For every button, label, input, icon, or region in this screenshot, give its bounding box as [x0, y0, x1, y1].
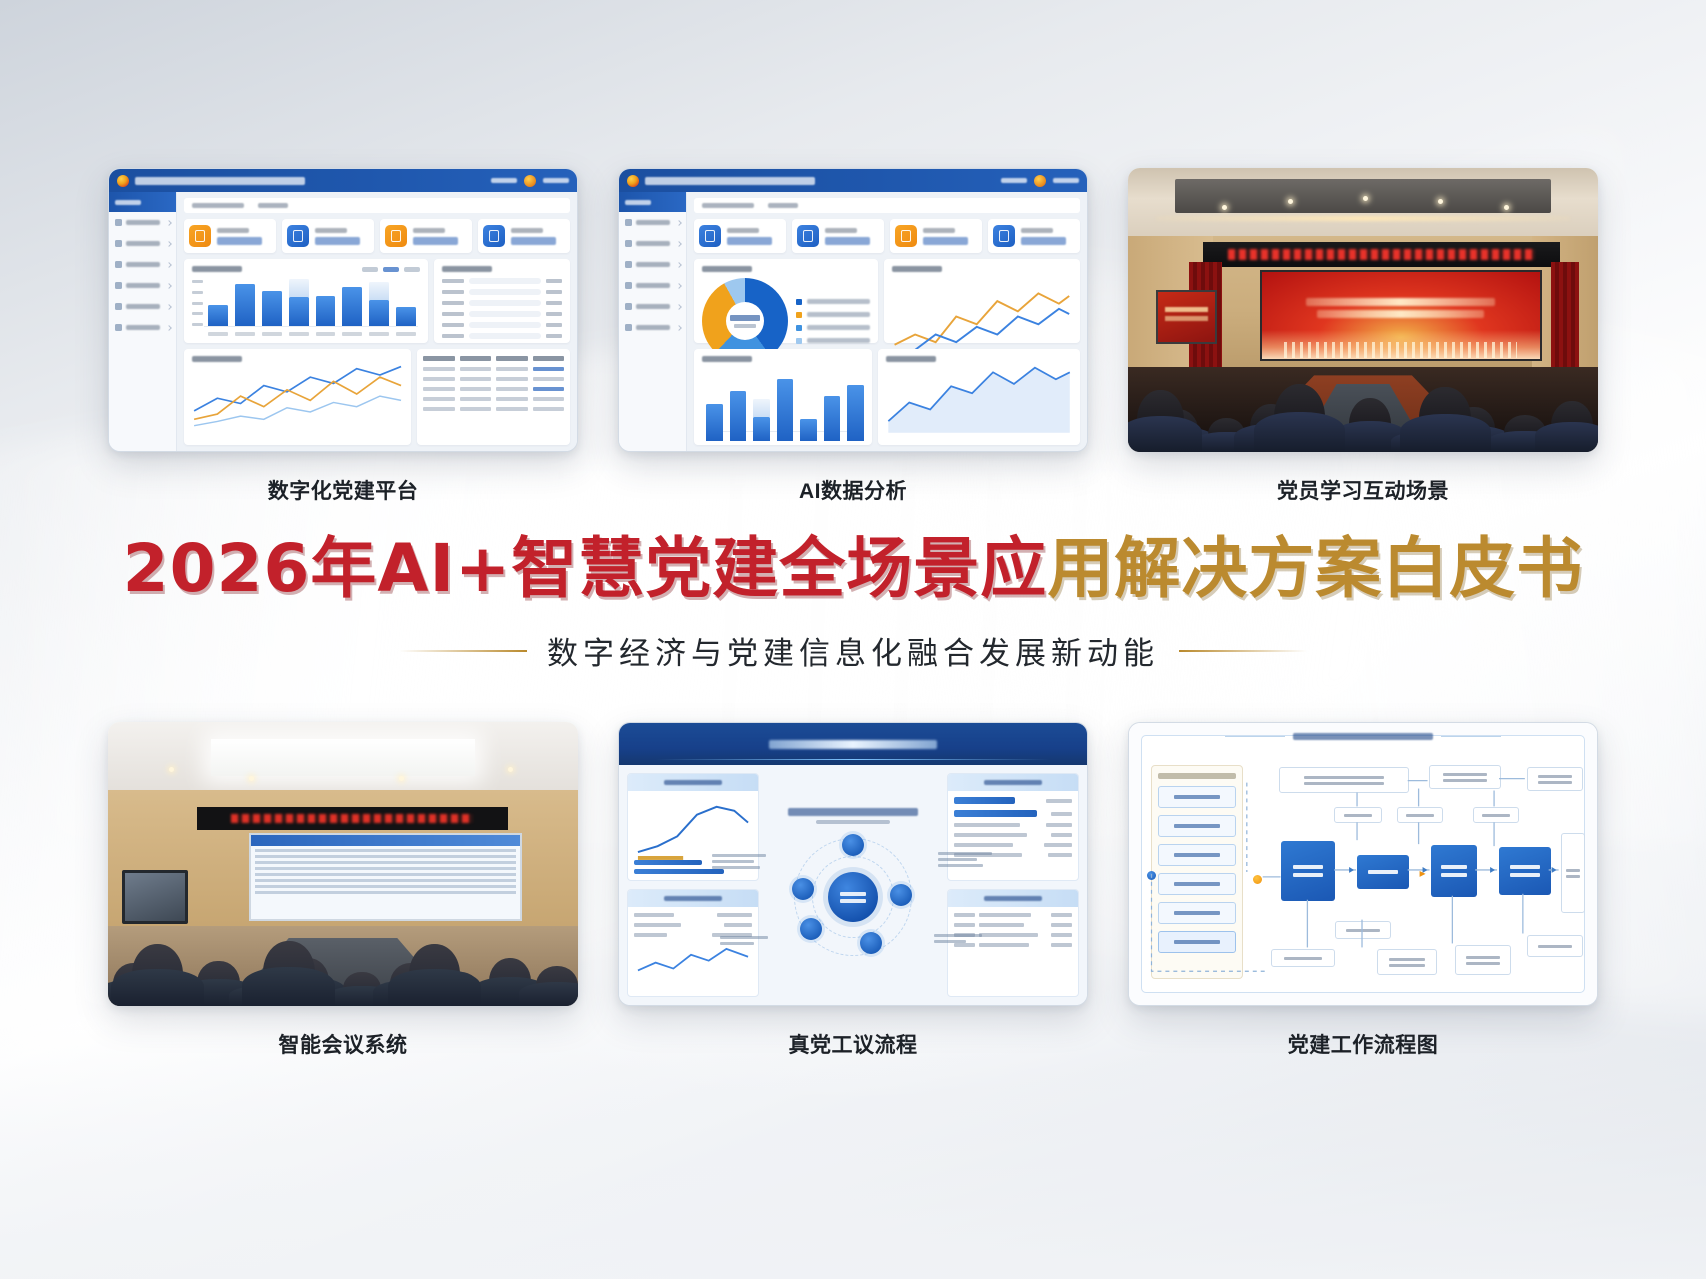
meeting-room-photo [108, 722, 578, 1006]
bar [208, 305, 228, 326]
dashboard-main [687, 192, 1087, 451]
kpi-card-4[interactable] [988, 219, 1080, 253]
list-item[interactable] [954, 833, 1072, 837]
breadcrumb-text [192, 203, 244, 208]
sidebar-item-3[interactable] [109, 254, 176, 275]
sidebar-header [619, 192, 686, 212]
attendee [1349, 398, 1391, 452]
list-rows [954, 797, 1072, 857]
bar-chart [706, 369, 864, 441]
chevron-down-icon [166, 220, 172, 226]
screen-skyline-graphic [1262, 330, 1540, 360]
bottom-panel-row [184, 349, 570, 445]
panel-list [947, 773, 1079, 881]
bar [800, 419, 817, 441]
panel-line-chart [884, 259, 1080, 343]
panel-header [948, 774, 1078, 791]
dashboard-mock [109, 169, 577, 451]
projected-app-header [251, 835, 520, 846]
attendee-foreground [263, 941, 315, 1006]
sidebar-item-label [126, 325, 160, 330]
panel-donut-chart [694, 259, 878, 343]
chevron-down-icon [166, 304, 172, 310]
sidebar-item-3[interactable] [619, 254, 686, 275]
panel-header [628, 774, 758, 791]
donut-legend [796, 299, 870, 344]
bar [730, 391, 747, 441]
progress-row [442, 289, 562, 295]
thumbnail-digital-party-platform[interactable] [108, 168, 578, 452]
donut-center-label [702, 278, 788, 364]
dashboard-title-text [645, 177, 815, 185]
stat-rows [634, 913, 752, 937]
bigscreen-body [619, 765, 1087, 1005]
gear-icon [625, 303, 632, 310]
panel-header [628, 890, 758, 907]
x-axis-labels [208, 332, 416, 336]
dashboard-topbar [109, 169, 577, 192]
projected-data-table [251, 846, 520, 897]
sidebar-item-label [126, 220, 160, 225]
folder-icon [115, 324, 122, 331]
dashboard-body [109, 192, 577, 451]
panel-toggle-group[interactable] [362, 267, 420, 272]
ranking-item[interactable] [954, 933, 1072, 937]
sidebar-item-5[interactable] [109, 296, 176, 317]
bar [777, 379, 794, 441]
sidebar-item-1[interactable] [619, 212, 686, 233]
sidebar-header-text [115, 200, 141, 205]
thumbnail-ai-data-analysis[interactable] [618, 168, 1088, 452]
ranking-item[interactable] [954, 913, 1072, 917]
card-party-work-flowchart[interactable]: 党建工作流程图 [1128, 722, 1598, 1059]
lock-icon [115, 219, 122, 226]
breadcrumb-action[interactable] [258, 203, 288, 208]
trend-line-chart [192, 356, 403, 430]
breadcrumb [694, 198, 1080, 213]
table-row[interactable] [423, 387, 564, 391]
panel-title [702, 266, 752, 272]
card-member-study-interaction[interactable]: 党员学习互动场景 [1128, 168, 1598, 505]
dashboard-mock [619, 169, 1087, 451]
panel-row [184, 259, 570, 343]
panel-bar-chart [184, 259, 428, 343]
attendee-foreground [409, 944, 461, 1006]
thumbnail-party-work-discussion-flow[interactable] [618, 722, 1088, 1006]
sidebar[interactable] [619, 192, 687, 451]
bigscreen-center-column [766, 773, 940, 997]
hero-subtitle-line: 数字经济与党建信息化融合发展新动能 [0, 628, 1706, 673]
topbar-right-group [491, 175, 569, 187]
kpi-card-2[interactable] [792, 219, 884, 253]
progress-row [442, 333, 562, 339]
kpi-card-2[interactable] [282, 219, 374, 253]
chevron-down-icon [676, 220, 682, 226]
card-smart-meeting-system[interactable]: 智能会议系统 [108, 722, 578, 1059]
hero-title-block: 2026年AI+智慧党建全场景应用解决方案白皮书 数字经济与党建信息化融合发展新… [0, 536, 1706, 673]
hub-subtitle [816, 820, 890, 824]
sidebar-item-label [636, 283, 670, 288]
page-title-gold: 用解决方案白皮书 [1047, 530, 1583, 607]
hub-title [788, 808, 918, 816]
table-header-row [423, 356, 564, 361]
chevron-down-icon [676, 241, 682, 247]
document-icon [797, 225, 819, 247]
grid-icon [115, 261, 122, 268]
progress-list [442, 278, 562, 339]
bar [316, 296, 336, 326]
legend-item [796, 338, 870, 344]
chevron-down-icon [676, 283, 682, 289]
flag-icon [895, 225, 917, 247]
legend-item [796, 312, 870, 318]
bigscreen-right-column [947, 773, 1079, 997]
card-digital-party-platform[interactable]: 数字化党建平台 [108, 168, 578, 505]
chevron-down-icon [676, 262, 682, 268]
ceiling-spotlight [249, 776, 254, 781]
panel-title [984, 896, 1042, 901]
skylight-panel [211, 739, 474, 776]
bar [262, 291, 282, 326]
hub-node-top[interactable] [842, 834, 864, 856]
bar [706, 404, 723, 441]
sidebar-item-label [636, 325, 670, 330]
card-caption: AI数据分析 [618, 475, 1088, 505]
attendee-foreground [1137, 390, 1184, 452]
chevron-down-icon [166, 262, 172, 268]
table-row[interactable] [423, 407, 564, 411]
ranking-item[interactable] [954, 943, 1072, 947]
avatar[interactable] [524, 175, 536, 187]
led-banner-text [1228, 249, 1535, 260]
kpi-card-3[interactable] [890, 219, 982, 253]
sidebar-header [109, 192, 176, 212]
panel-progress-list [434, 259, 570, 343]
card-ai-data-analysis[interactable]: AI数据分析 [618, 168, 1088, 505]
thumbnail-smart-meeting-system[interactable] [108, 722, 578, 1006]
panel-header [702, 266, 870, 272]
grid-icon [625, 261, 632, 268]
panel-ranking [947, 889, 1079, 997]
card-party-work-discussion-flow[interactable]: 真党工议流程 [618, 722, 1088, 1059]
table-row[interactable] [423, 367, 564, 371]
legend-item [796, 325, 870, 331]
bar [235, 284, 255, 326]
sidebar-item-6[interactable] [619, 317, 686, 338]
thumbnail-member-study-interaction[interactable] [1128, 168, 1598, 452]
party-emblem-icon [627, 175, 639, 187]
attendee-foreground [1274, 384, 1326, 452]
chart-icon [625, 282, 632, 289]
bar [342, 287, 362, 326]
bigscreen-header [619, 723, 1087, 765]
breadcrumb-action[interactable] [768, 203, 798, 208]
cloud-icon [483, 225, 505, 247]
sidebar-item-label [126, 283, 160, 288]
flowchart-connectors [1129, 723, 1597, 1005]
chart-icon [699, 225, 721, 247]
topbar-user-text[interactable] [1053, 178, 1079, 183]
led-banner [1203, 242, 1560, 268]
page-title-red: 2026年AI+智慧党建全场景应 [123, 530, 1048, 607]
card-caption: 党员学习互动场景 [1128, 475, 1598, 505]
topbar-right-group [1001, 175, 1079, 187]
y-axis-ticks [192, 280, 204, 326]
panel-header [442, 266, 562, 272]
kpi-row [184, 219, 570, 253]
bar [634, 860, 702, 865]
card-caption: 智能会议系统 [108, 1029, 578, 1059]
hub-core[interactable] [828, 872, 878, 922]
sidebar-item-label [636, 304, 670, 309]
screen-headline [1306, 298, 1495, 306]
ceiling-light-strip [1156, 216, 1570, 221]
sidebar-item-label [126, 241, 160, 246]
hub-node-bottom-left[interactable] [800, 918, 822, 940]
progress-row [442, 322, 562, 328]
hub-node-left[interactable] [792, 878, 814, 900]
bar [369, 300, 389, 326]
donut-chart [702, 278, 788, 364]
bar [396, 307, 416, 326]
chevron-down-icon [166, 241, 172, 247]
ceiling-spotlight [1222, 205, 1227, 210]
wall-monitor [122, 870, 188, 924]
dashboard-topbar [619, 169, 1087, 192]
sidebar-item-2[interactable] [109, 233, 176, 254]
chevron-down-icon [676, 304, 682, 310]
document-icon [287, 225, 309, 247]
screen-subline [1317, 310, 1484, 318]
page-title: 2026年AI+智慧党建全场景应用解决方案白皮书 [0, 536, 1706, 602]
projection-screen [249, 833, 522, 921]
hub-diagram [778, 832, 928, 962]
chevron-down-icon [166, 325, 172, 331]
panel-data-table [417, 349, 570, 445]
dashboard-title-text [135, 177, 305, 185]
panel-header [892, 266, 1072, 272]
ceiling-spotlight [1504, 205, 1509, 210]
kpi-card-4[interactable] [478, 219, 570, 253]
sidebar-item-6[interactable] [109, 317, 176, 338]
sidebar-item-4[interactable] [619, 275, 686, 296]
table-row[interactable] [423, 377, 564, 381]
panel-title [664, 780, 722, 785]
list-item[interactable] [954, 797, 1072, 804]
subtitle-rule-left [399, 650, 527, 652]
kpi-card-1[interactable] [184, 219, 276, 253]
kpi-text [413, 228, 467, 245]
hub-node-right[interactable] [890, 884, 912, 906]
panel-title [442, 266, 492, 272]
sidebar-item-4[interactable] [109, 275, 176, 296]
kpi-text [511, 228, 565, 245]
shield-icon [189, 225, 211, 247]
attendee [536, 966, 578, 1006]
panel-body [948, 907, 1078, 996]
panel-title [664, 896, 722, 901]
sidebar-item-label [636, 241, 670, 246]
breadcrumb-text [702, 203, 754, 208]
topbar-user-text[interactable] [543, 178, 569, 183]
progress-row [442, 278, 562, 284]
card-caption: 数字化党建平台 [108, 475, 578, 505]
conference-photo [1128, 168, 1598, 452]
panel-title [192, 266, 242, 272]
bigscreen-left-column [627, 773, 759, 997]
attendee-foreground [132, 944, 184, 1006]
thumbnail-row-top: 数字化党建平台 [0, 168, 1706, 505]
panel-body [628, 907, 758, 996]
panel-area-chart [878, 349, 1080, 445]
bar [847, 385, 864, 441]
attendee-foreground [1419, 387, 1471, 452]
kpi-text [315, 228, 369, 245]
main-led-screen [1260, 270, 1542, 361]
topbar-link-text[interactable] [491, 178, 517, 183]
panel-title [984, 780, 1042, 785]
panel-trend-chart [184, 349, 411, 445]
bar [634, 869, 724, 874]
chevron-down-icon [676, 325, 682, 331]
cloud-icon [993, 225, 1015, 247]
bar [753, 417, 770, 441]
list-item[interactable] [954, 843, 1072, 847]
kpi-card-1[interactable] [694, 219, 786, 253]
party-emblem-icon [117, 175, 129, 187]
attendee [1551, 401, 1593, 452]
thumbnail-row-bottom: 智能会议系统 [0, 722, 1706, 1059]
page-subtitle: 数字经济与党建信息化融合发展新动能 [547, 628, 1159, 673]
led-banner-text [231, 814, 473, 823]
side-display-left [1156, 290, 1217, 344]
stage-curtain-right [1551, 262, 1579, 376]
panel-header [948, 890, 1078, 907]
sidebar-item-5[interactable] [619, 296, 686, 317]
sidebar-item-label [126, 262, 160, 267]
card-caption: 真党工议流程 [618, 1029, 1088, 1059]
list-item[interactable] [954, 810, 1072, 817]
ranking-rows [954, 913, 1072, 947]
progress-row [442, 311, 562, 317]
list-icon [115, 240, 122, 247]
card-caption: 党建工作流程图 [1128, 1029, 1598, 1059]
dashboard-body [619, 192, 1087, 451]
bigscreen-title-text [769, 740, 937, 749]
panel-body [948, 791, 1078, 880]
gear-icon [115, 303, 122, 310]
flowchart-canvas [1129, 723, 1597, 1005]
progress-row [442, 300, 562, 306]
secondary-line-chart [634, 941, 752, 980]
hub-node-bottom-right[interactable] [860, 932, 882, 954]
file-icon [385, 225, 407, 247]
hub-annotation-bottom-left [720, 936, 768, 945]
chevron-down-icon [166, 283, 172, 289]
sidebar-item-2[interactable] [619, 233, 686, 254]
hub-diagram-area [766, 773, 940, 997]
stat-row [634, 913, 752, 917]
ranking-item[interactable] [954, 923, 1072, 927]
panel-row [694, 259, 1080, 343]
bar [824, 396, 841, 441]
sidebar-item-label [636, 262, 670, 267]
topbar-link-text[interactable] [1001, 178, 1027, 183]
sidebar-item-label [126, 304, 160, 309]
sidebar-header-text [625, 200, 651, 205]
list-item[interactable] [954, 853, 1072, 857]
table-row[interactable] [423, 397, 564, 401]
kpi-card-3[interactable] [380, 219, 472, 253]
thumbnail-party-work-flowchart[interactable] [1128, 722, 1598, 1006]
panel-header [192, 266, 420, 272]
led-banner [197, 807, 507, 830]
sidebar[interactable] [109, 192, 177, 451]
bar-chart [192, 278, 420, 336]
lock-icon [625, 219, 632, 226]
list-icon [625, 240, 632, 247]
chart-icon [115, 282, 122, 289]
sidebar-item-1[interactable] [109, 212, 176, 233]
sidebar-item-label [636, 220, 670, 225]
bigscreen-dashboard [619, 723, 1087, 1005]
poster-page: 数字化党建平台 [0, 0, 1706, 1279]
dashboard-main [177, 192, 577, 451]
hub-annotation-left [712, 854, 766, 869]
folder-icon [625, 324, 632, 331]
stat-row [634, 923, 752, 927]
breadcrumb [184, 198, 570, 213]
legend-item [796, 299, 870, 305]
bar [289, 297, 309, 326]
list-item[interactable] [954, 823, 1072, 827]
area-chart [886, 356, 1072, 433]
subtitle-rule-right [1179, 650, 1307, 652]
panel-title [892, 266, 942, 272]
kpi-text [217, 228, 271, 245]
kpi-row [694, 219, 1080, 253]
avatar[interactable] [1034, 175, 1046, 187]
